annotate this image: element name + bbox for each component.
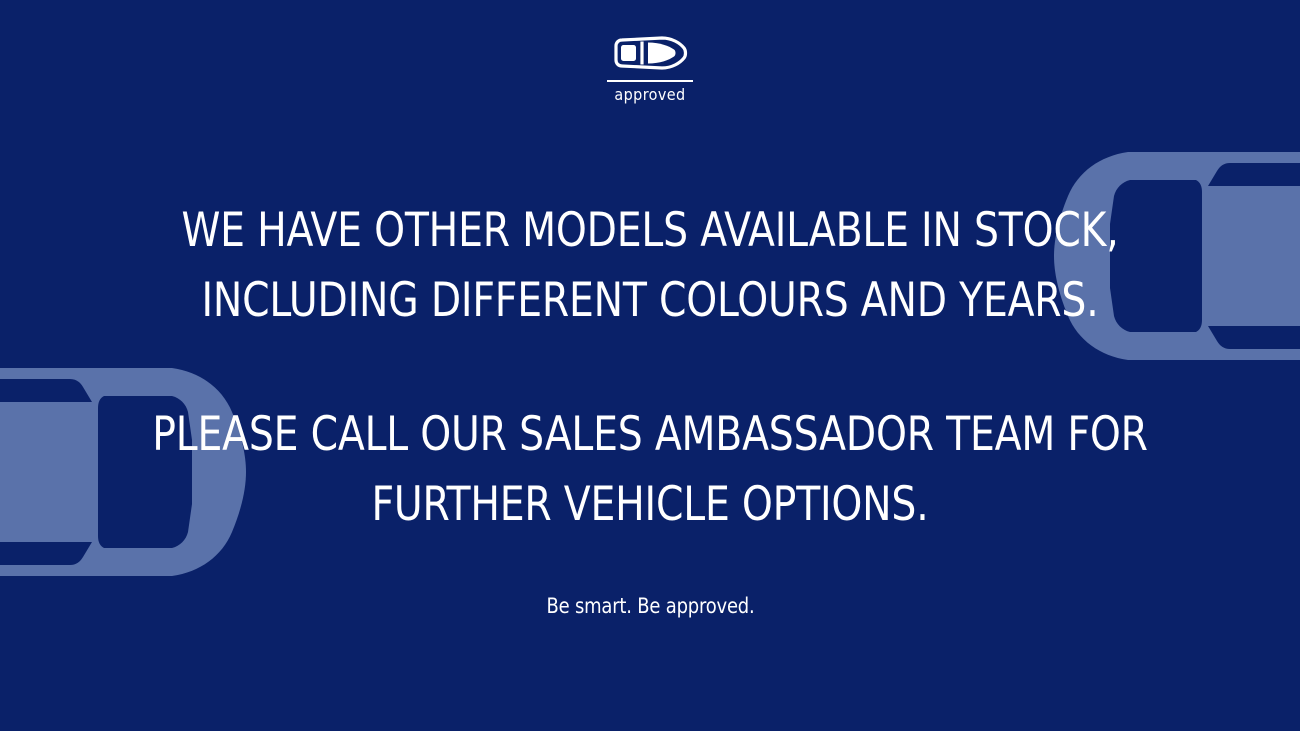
slide-content: WE HAVE OTHER MODELS AVAILABLE IN STOCK,… [0,0,1300,731]
headline-paragraph-1: WE HAVE OTHER MODELS AVAILABLE IN STOCK,… [111,196,1190,336]
headline-paragraph-2: PLEASE CALL OUR SALES AMBASSADOR TEAM FO… [111,400,1190,540]
tagline: Be smart. Be approved. [546,596,754,617]
slide-canvas: approved WE HAVE OTHER MODELS AVAILABLE … [0,0,1300,731]
